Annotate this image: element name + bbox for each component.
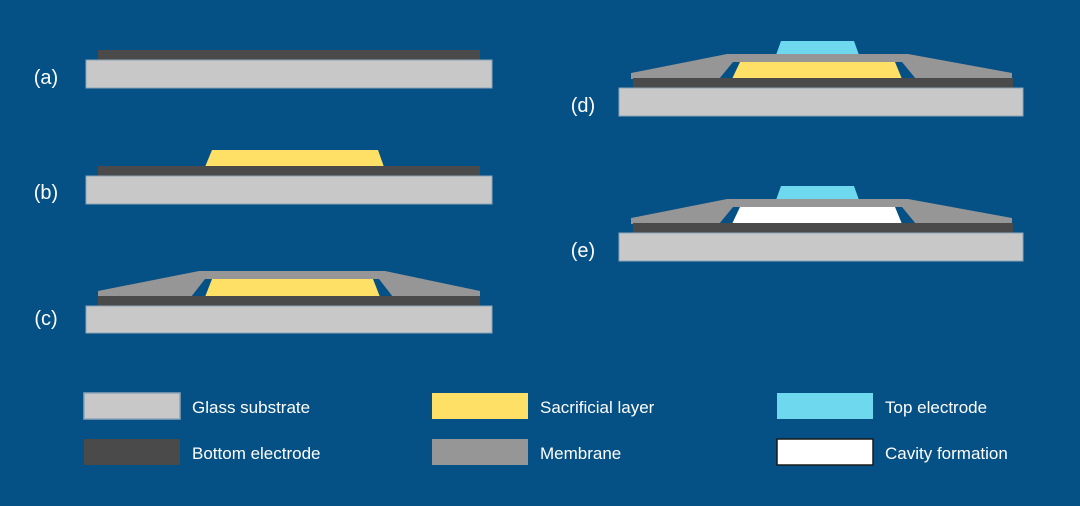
panel-e-glass-substrate [619,233,1023,261]
bottom-electrode-swatch [84,439,180,465]
panel-c-label: (c) [34,308,57,330]
panel-a-bottom-electrode [98,50,480,61]
panel-d-sacrificial-layer [732,62,902,79]
panel-b-sacrificial-layer [205,150,384,167]
sacrificial-layer-swatch [432,393,528,419]
legend-label-5: Cavity formation [885,444,1008,463]
panel-d-label: (d) [571,95,595,117]
legend-label-4: Top electrode [885,398,987,417]
panel-a-group: (a) [34,50,492,89]
panel-e-top-electrode [776,186,859,200]
panel-d-bottom-electrode [633,78,1013,89]
panel-e-label: (e) [571,240,595,262]
panel-b-bottom-electrode [98,166,480,177]
panel-e-cavity-formation [732,207,902,224]
fabrication-process-diagram: (a) (b) (c) (d) [0,0,1080,506]
panel-e-bottom-electrode [633,223,1013,234]
legend-label-3: Membrane [540,444,621,463]
panel-a-label: (a) [34,67,58,89]
panel-b-label: (b) [34,182,58,204]
panel-c-bottom-electrode [98,296,480,307]
membrane-swatch [432,439,528,465]
panel-a-glass-substrate [86,60,492,88]
legend-label-0: Glass substrate [192,398,310,417]
panel-d-top-electrode [776,41,859,55]
panel-c-sacrificial-layer [205,279,380,297]
panel-d-glass-substrate [619,88,1023,116]
panel-c-glass-substrate [86,306,492,333]
top-electrode-swatch [777,393,873,419]
panel-b-glass-substrate [86,176,492,204]
legend-label-1: Bottom electrode [192,444,321,463]
cavity-formation-swatch [777,439,873,465]
legend-label-2: Sacrificial layer [540,398,655,417]
figure-canvas: (a) (b) (c) (d) [0,0,1080,506]
glass-substrate-swatch [84,393,180,419]
